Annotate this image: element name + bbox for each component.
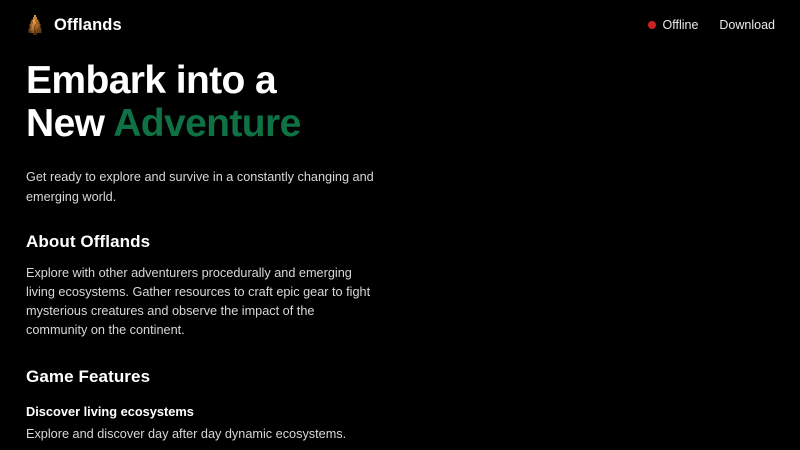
brand-name: Offlands [54, 17, 122, 34]
page-root: Offlands Offline Download Embark into a … [0, 0, 800, 450]
status-badge: Offline [648, 19, 699, 32]
brand[interactable]: Offlands [26, 15, 122, 35]
hero-title-line-1: Embark into a [26, 59, 276, 102]
main-content: Embark into a New Adventure Get ready to… [0, 50, 800, 450]
download-link[interactable]: Download [719, 19, 775, 32]
header-nav: Offline Download [648, 19, 777, 32]
feature-item: Discover living ecosystems Explore and d… [26, 404, 776, 444]
pine-tree-pixel-icon [26, 15, 44, 35]
features-heading: Game Features [26, 367, 776, 387]
status-label: Offline [663, 19, 699, 32]
hero-title-line-2-accent: Adventure [113, 102, 300, 145]
about-body: Explore with other adventurers procedura… [26, 264, 376, 340]
status-dot-offline-icon [648, 21, 656, 29]
page-title: Embark into a New Adventure [26, 59, 776, 145]
hero-subtitle: Get ready to explore and survive in a co… [26, 167, 386, 207]
site-header: Offlands Offline Download [0, 0, 800, 50]
hero-title-line-2-plain: New [26, 102, 113, 145]
feature-title: Discover living ecosystems [26, 404, 776, 420]
about-heading: About Offlands [26, 232, 776, 252]
feature-text: Explore and discover day after day dynam… [26, 425, 378, 444]
